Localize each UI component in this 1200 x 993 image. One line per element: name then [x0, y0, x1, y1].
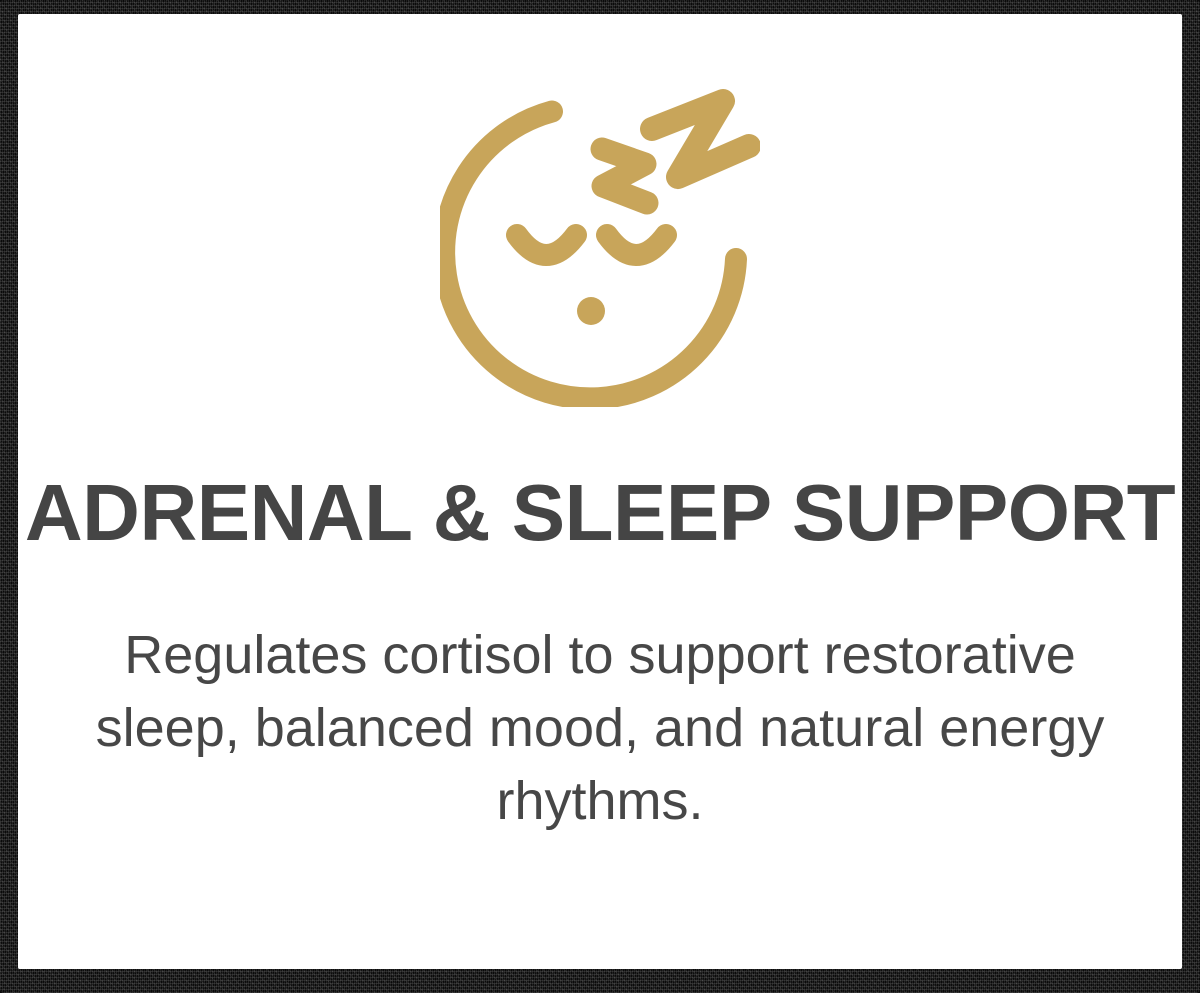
feature-card-frame: ADRENAL & SLEEP SUPPORT Regulates cortis… [0, 0, 1200, 993]
small-round-mouth [577, 297, 605, 325]
closed-right-eye [607, 235, 666, 255]
sleeping-face-icon [440, 87, 760, 407]
small-z-glyph [602, 149, 647, 203]
feature-card: ADRENAL & SLEEP SUPPORT Regulates cortis… [18, 14, 1182, 969]
feature-description: Regulates cortisol to support restorativ… [95, 619, 1105, 838]
page-title: ADRENAL & SLEEP SUPPORT [18, 469, 1182, 557]
icon-container [18, 82, 1182, 412]
closed-left-eye [517, 235, 576, 255]
large-z-glyph [652, 101, 749, 177]
